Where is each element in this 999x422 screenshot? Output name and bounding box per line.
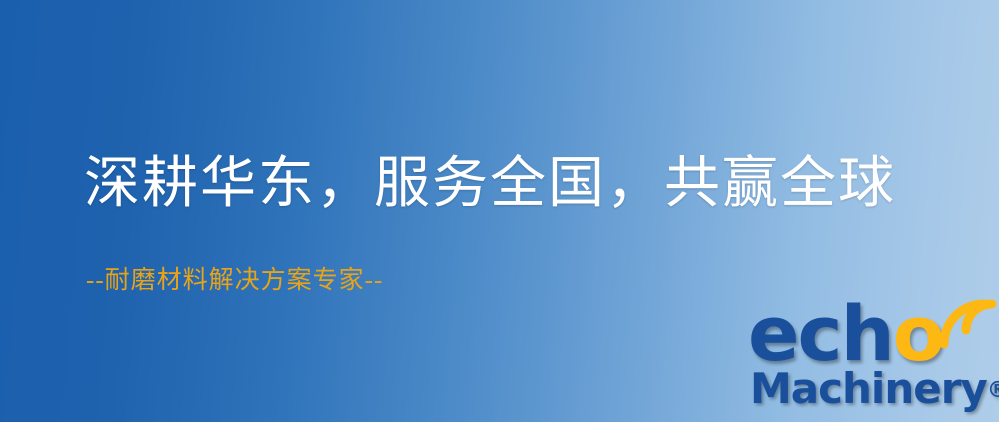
- registered-trademark-icon: ®: [987, 378, 999, 403]
- signal-waves-icon: [934, 294, 998, 350]
- logo-wordmark-row: echo: [748, 296, 999, 368]
- company-logo[interactable]: echo Machinery®: [748, 296, 999, 422]
- promo-banner: 深耕华东，服务全国，共赢全球 --耐磨材料解决方案专家-- echo Machi…: [0, 0, 999, 422]
- banner-headline: 深耕华东，服务全国，共赢全球: [84, 152, 896, 216]
- logo-tagline-text: Machinery: [750, 364, 987, 413]
- logo-tagline: Machinery®: [750, 366, 999, 414]
- logo-wordmark: echo: [748, 296, 943, 372]
- banner-subtitle: --耐磨材料解决方案专家--: [86, 265, 383, 297]
